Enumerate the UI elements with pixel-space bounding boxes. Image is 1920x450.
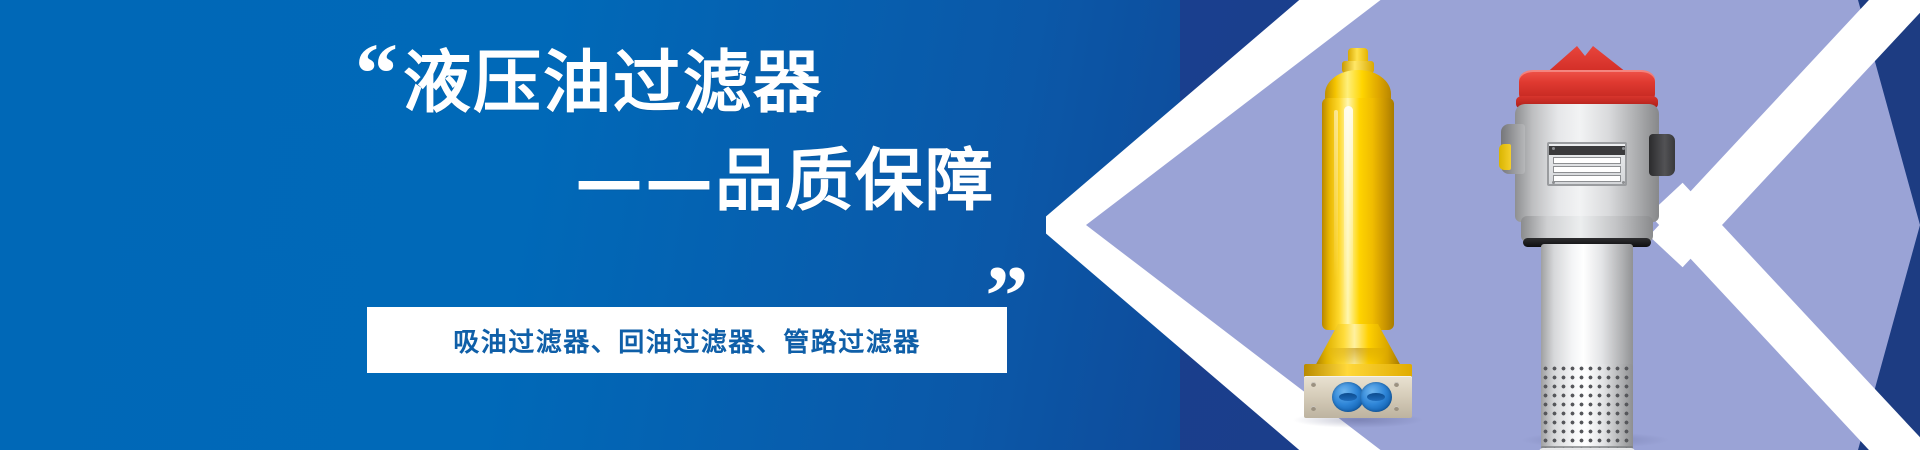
yellow-filter-body xyxy=(1322,98,1394,330)
headline-column: “ 液压油过滤器 ——品质保障 „ 吸油过滤器、回油过滤器、管路过滤器 xyxy=(355,36,1055,396)
white-filter-tube xyxy=(1541,244,1633,382)
subtitle-box: 吸油过滤器、回油过滤器、管路过滤器 xyxy=(367,307,1007,373)
nameplate-row xyxy=(1553,166,1621,173)
product-image-yellow-suction-filter xyxy=(1298,48,1418,420)
nameplate-row xyxy=(1553,175,1621,182)
yellow-filter-bolt xyxy=(1311,406,1316,411)
white-filter-yellow-plug xyxy=(1499,144,1511,170)
white-filter-knob xyxy=(1649,134,1675,176)
white-filter-perforated-mesh xyxy=(1541,364,1633,450)
subtitle-text: 吸油过滤器、回油过滤器、管路过滤器 xyxy=(453,322,921,359)
quote-close-icon: „ xyxy=(986,208,1029,294)
product-image-white-return-filter xyxy=(1497,46,1687,446)
yellow-filter-bolt xyxy=(1394,382,1399,387)
headline-line-2: ——品质保障 xyxy=(355,148,995,216)
nameplate-rivet xyxy=(1622,181,1625,184)
promo-banner: “ 液压油过滤器 ——品质保障 „ 吸油过滤器、回油过滤器、管路过滤器 xyxy=(0,0,1920,450)
nameplate-row xyxy=(1553,157,1621,164)
yellow-filter-highlight-secondary xyxy=(1334,110,1338,280)
yellow-filter-highlight xyxy=(1344,106,1353,306)
nameplate-rivet xyxy=(1552,147,1555,150)
headline-line-1: 液压油过滤器 xyxy=(403,50,823,118)
quote-open-icon: “ xyxy=(355,30,398,116)
white-filter-nameplate xyxy=(1547,142,1627,186)
yellow-filter-port-right xyxy=(1360,382,1392,412)
nameplate-title-bar xyxy=(1549,146,1625,155)
nameplate-rivet xyxy=(1552,181,1555,184)
nameplate-rivet xyxy=(1622,147,1625,150)
yellow-filter-bolt xyxy=(1311,382,1316,387)
yellow-filter-bolt xyxy=(1394,406,1399,411)
